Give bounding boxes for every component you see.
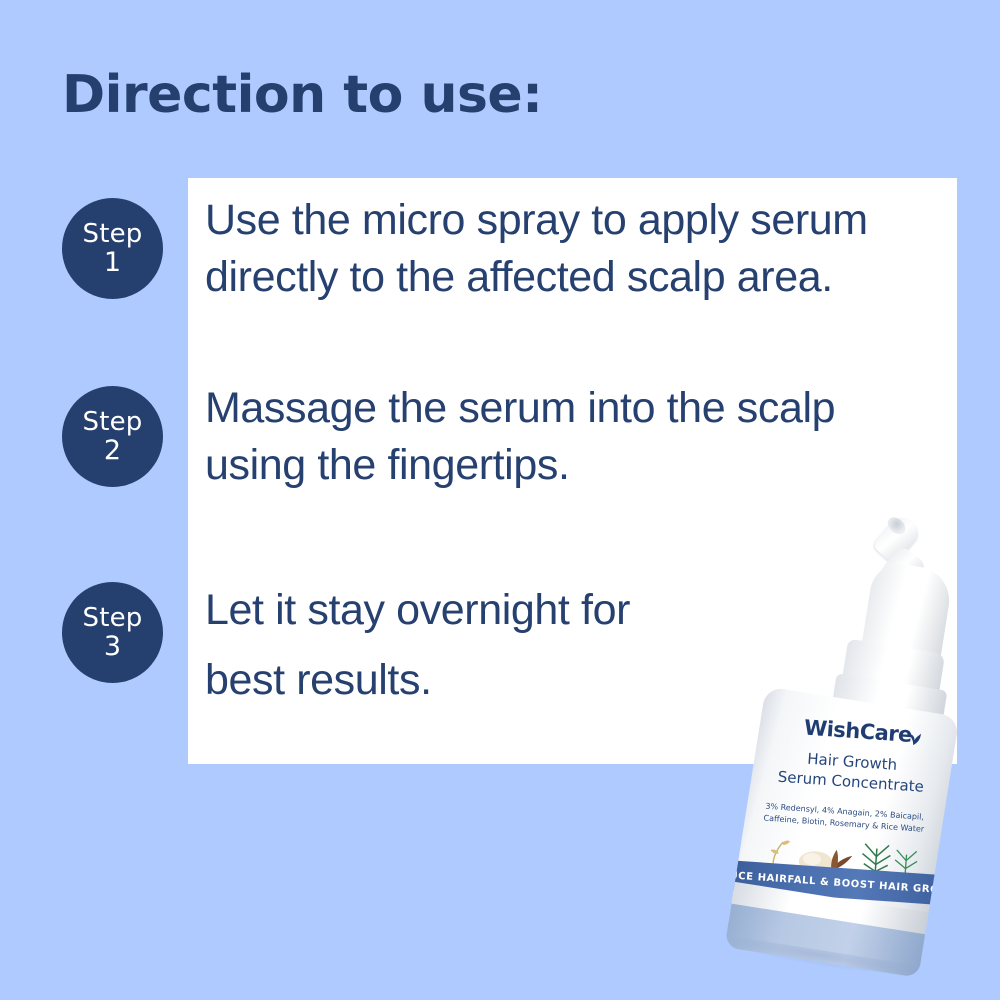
page-title: Direction to use: (62, 68, 542, 123)
step-text-line: Use the micro spray to apply serum (205, 192, 965, 249)
promo-graphic: Direction to use: Step 1 Use the micro s… (0, 0, 1000, 1000)
step-badge-3: Step 3 (62, 582, 163, 683)
step-badge-label: Step (83, 605, 143, 631)
step-badge-2: Step 2 (62, 386, 163, 487)
product-title: Hair Growth Serum Concentrate (762, 747, 940, 799)
step-badge-1: Step 1 (62, 198, 163, 299)
step-badge-label: Step (83, 409, 143, 435)
step-badge-number: 1 (104, 249, 121, 276)
step-badge-number: 3 (104, 633, 121, 660)
step-text-line: directly to the affected scalp area. (205, 249, 965, 306)
step-text-2: Massage the serum into the scalp using t… (205, 380, 965, 494)
step-badge-label: Step (83, 221, 143, 247)
step-text-1: Use the micro spray to apply serum direc… (205, 192, 965, 306)
step-text-line: using the fingertips. (205, 437, 965, 494)
step-badge-number: 2 (104, 437, 121, 464)
step-text-line: Massage the serum into the scalp (205, 380, 965, 437)
leaf-icon (905, 730, 922, 747)
